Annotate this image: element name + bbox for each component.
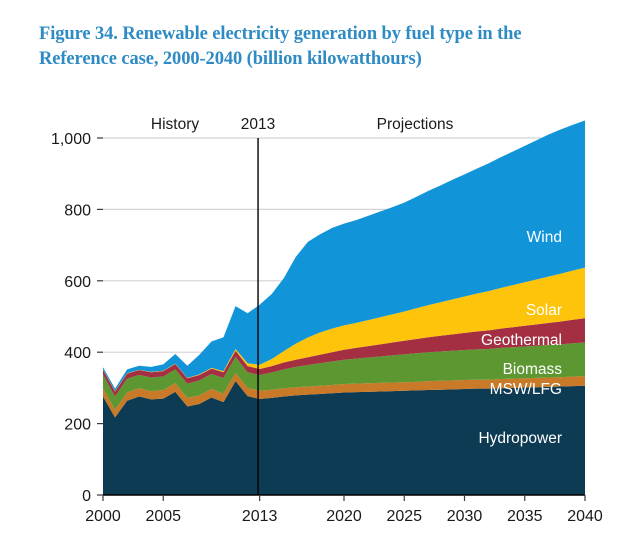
ytick-label-600: 600 — [64, 274, 91, 291]
figure-container: Figure 34. Renewable electricity generat… — [0, 0, 623, 553]
xtick-label-2000: 2000 — [85, 508, 121, 525]
xtick-label-2030: 2030 — [447, 508, 483, 525]
y-axis-ticks — [97, 138, 103, 495]
xtick-label-2040: 2040 — [567, 508, 603, 525]
xtick-label-2005: 2005 — [145, 508, 181, 525]
series-label-solar: Solar — [526, 302, 562, 319]
x-axis-labels: 20002005201320202025203020352040 — [85, 508, 603, 525]
y-axis-labels: 1,000 800 600 400 200 0 — [51, 131, 91, 505]
ytick-label-800: 800 — [64, 202, 91, 219]
xtick-label-2035: 2035 — [507, 508, 543, 525]
ytick-label-200: 200 — [64, 417, 91, 434]
annotation-history: History — [151, 116, 199, 133]
xtick-label-2013: 2013 — [242, 508, 278, 525]
series-label-hydropower: Hydropower — [478, 430, 562, 447]
annotation-divider-year: 2013 — [241, 116, 275, 133]
renewable-generation-stacked-area-chart: 1,000 800 600 400 200 0 2000200520132020… — [0, 0, 623, 553]
xtick-label-2020: 2020 — [326, 508, 362, 525]
x-axis-ticks — [103, 495, 585, 501]
series-label-geothermal: Geothermal — [481, 332, 562, 349]
ytick-label-1000: 1,000 — [51, 131, 91, 148]
xtick-label-2025: 2025 — [386, 508, 422, 525]
series-label-biomass: Biomass — [503, 361, 563, 378]
annotation-projections: Projections — [377, 116, 454, 133]
series-label-wind: Wind — [527, 229, 562, 246]
ytick-label-0: 0 — [82, 488, 91, 505]
series-label-mswlfg: MSW/LFG — [490, 381, 562, 398]
ytick-label-400: 400 — [64, 345, 91, 362]
